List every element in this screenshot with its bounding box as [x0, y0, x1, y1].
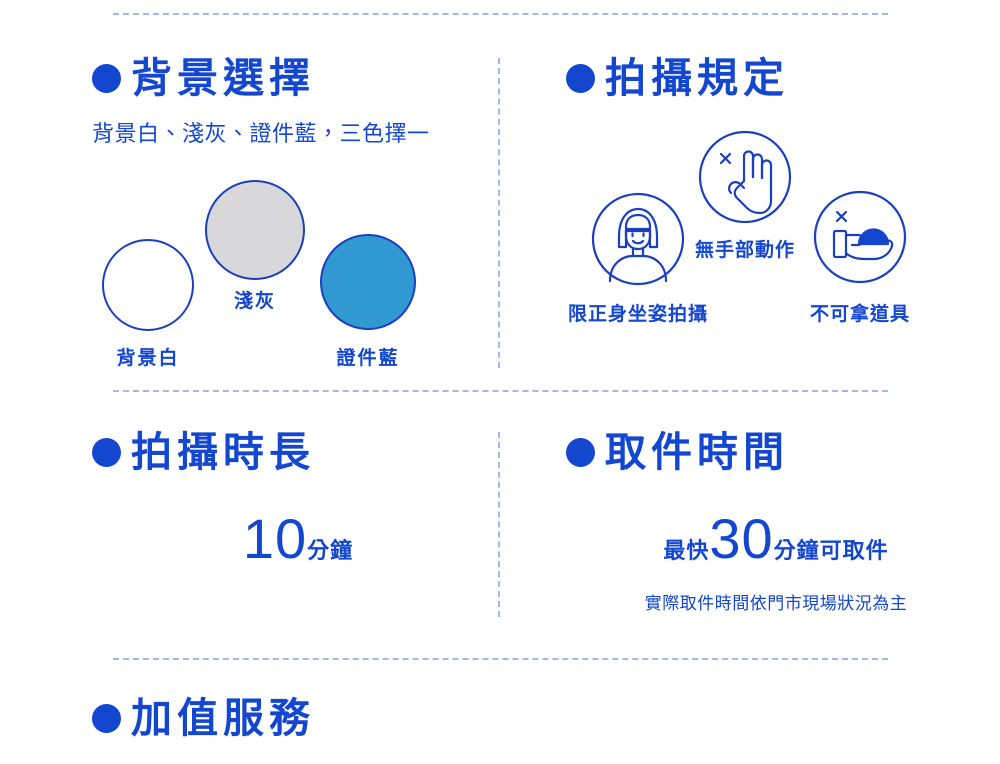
section-shooting-duration: 拍攝時長 10 分鐘 — [92, 432, 492, 567]
swatch-label-gray: 淺灰 — [204, 286, 306, 313]
duration-heading: 拍攝時長 — [92, 432, 492, 473]
section-background-selection: 背景選擇 背景白、淺灰、證件藍，三色擇一 背景白 淺灰 證件藍 — [92, 58, 492, 386]
pickup-prefix: 最快 — [663, 533, 709, 565]
duration-unit: 分鐘 — [307, 533, 353, 565]
pickup-note: 實際取件時間依門市現場狀況為主 — [566, 589, 986, 614]
rule-label-no-hand: 無手部動作 — [682, 235, 808, 262]
swatch-label-white: 背景白 — [92, 343, 204, 370]
pickup-number: 30 — [709, 511, 773, 567]
pickup-metric: 最快 30 分鐘可取件 — [566, 511, 986, 567]
rules-icon-group: 限正身坐姿拍攝 無手部動作 — [566, 129, 986, 359]
no-props-icon[interactable] — [812, 189, 908, 285]
bullet-dot-icon — [92, 64, 121, 93]
bullet-dot-icon — [566, 438, 595, 467]
infographic-page: 背景選擇 背景白、淺灰、證件藍，三色擇一 背景白 淺灰 證件藍 拍攝規定 — [0, 0, 1000, 764]
background-heading-text: 背景選擇 — [131, 58, 315, 99]
divider-vertical-lower — [498, 432, 500, 617]
pickup-heading-text: 取件時間 — [605, 432, 789, 473]
duration-metric: 10 分鐘 — [92, 511, 492, 567]
circle-swatch-gray[interactable] — [205, 180, 305, 280]
no-hand-gesture-icon[interactable] — [697, 129, 793, 225]
divider-top — [113, 13, 888, 15]
rules-heading: 拍攝規定 — [566, 58, 986, 99]
section-shooting-rules: 拍攝規定 — [566, 58, 986, 359]
pickup-unit: 分鐘可取件 — [774, 533, 889, 565]
divider-bottom — [113, 658, 888, 660]
section-value-added-service: 加值服務 — [92, 698, 492, 739]
section-pickup-time: 取件時間 最快 30 分鐘可取件 實際取件時間依門市現場狀況為主 — [566, 432, 986, 614]
value-added-heading: 加值服務 — [92, 698, 492, 739]
rule-label-no-props: 不可拿道具 — [788, 299, 932, 326]
background-subtitle: 背景白、淺灰、證件藍，三色擇一 — [92, 116, 492, 148]
rules-heading-text: 拍攝規定 — [605, 58, 789, 99]
background-swatch-group: 背景白 淺灰 證件藍 — [92, 166, 562, 386]
bullet-dot-icon — [566, 64, 595, 93]
background-heading: 背景選擇 — [92, 58, 492, 99]
rule-label-posture: 限正身坐姿拍攝 — [534, 299, 742, 326]
bullet-dot-icon — [92, 704, 121, 733]
duration-heading-text: 拍攝時長 — [131, 432, 315, 473]
circle-swatch-white[interactable] — [102, 239, 194, 331]
pickup-heading: 取件時間 — [566, 432, 986, 473]
swatch-label-blue: 證件藍 — [312, 343, 424, 370]
portrait-person-icon[interactable] — [590, 191, 686, 287]
circle-swatch-blue[interactable] — [320, 234, 416, 330]
value-added-heading-text: 加值服務 — [131, 698, 315, 739]
divider-middle — [113, 390, 888, 392]
bullet-dot-icon — [92, 438, 121, 467]
duration-number: 10 — [243, 511, 307, 567]
